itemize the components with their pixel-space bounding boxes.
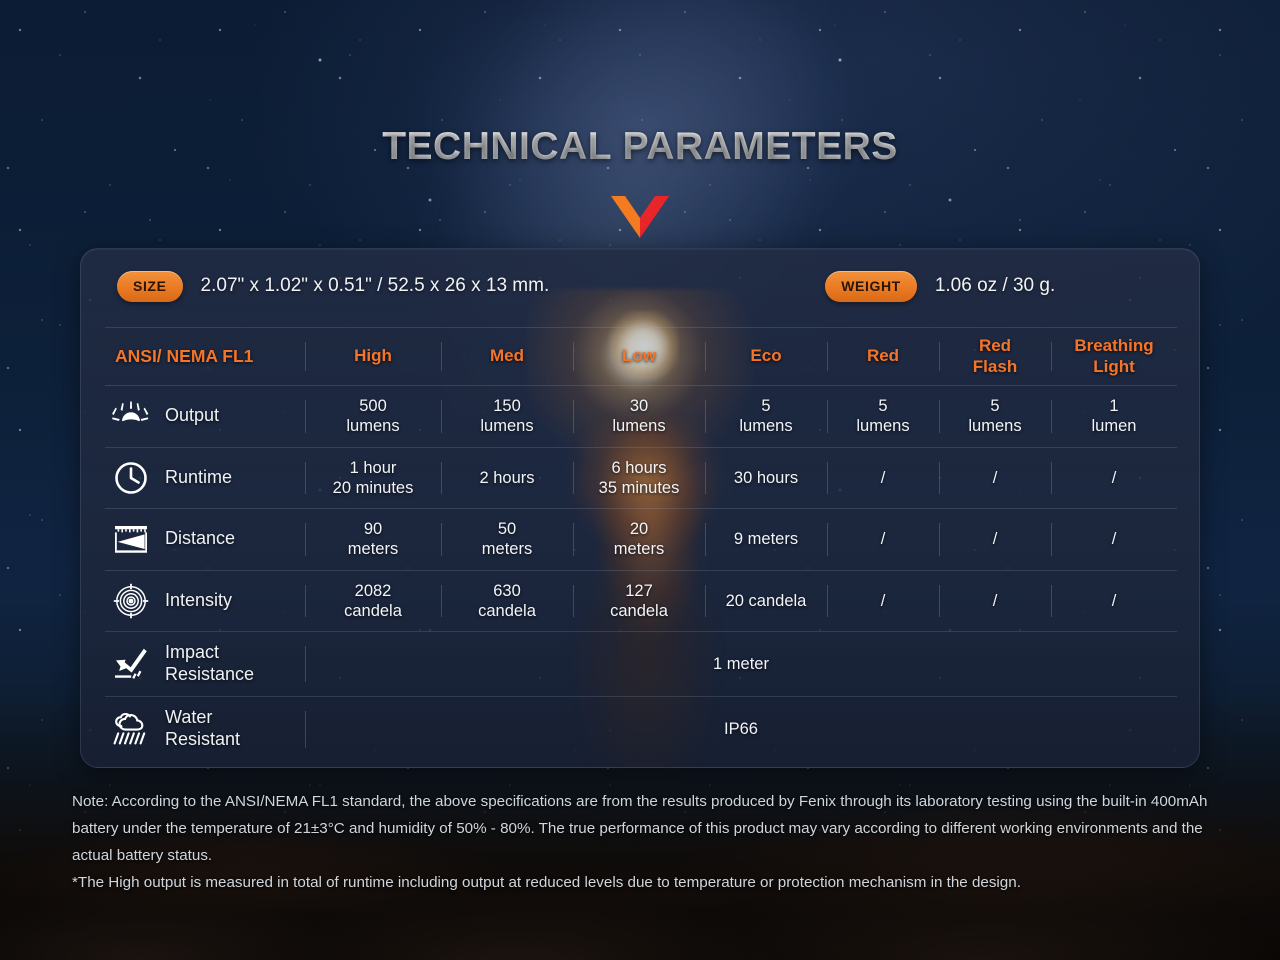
- cell-distance-high: 90 meters: [305, 509, 441, 571]
- footnote: Note: According to the ANSI/NEMA FL1 sta…: [72, 788, 1212, 896]
- cell-output-red: 5 lumens: [827, 386, 939, 448]
- cell-output-low: 30 lumens: [573, 386, 705, 448]
- weight-badge: WEIGHT: [825, 271, 917, 302]
- row-label-runtime: Runtime: [105, 447, 305, 509]
- row-label-text: Impact Resistance: [165, 642, 254, 686]
- row-label-text: Runtime: [165, 467, 232, 489]
- cell-intensity-med: 630 candela: [441, 570, 573, 632]
- header-red-flash: Red Flash: [939, 328, 1051, 386]
- cell-distance-eco: 9 meters: [705, 509, 827, 571]
- cell-runtime-red-flash: /: [939, 447, 1051, 509]
- page-background: TECHNICAL PARAMETERS SIZE 2.07" x 1.: [0, 0, 1280, 960]
- header-ansi-nema-fl1: ANSI/ NEMA FL1: [105, 328, 305, 386]
- cell-runtime-med: 2 hours: [441, 447, 573, 509]
- cell-distance-red-flash: /: [939, 509, 1051, 571]
- cell-output-breathing-light: 1 lumen: [1051, 386, 1177, 448]
- cell-runtime-low: 6 hours 35 minutes: [573, 447, 705, 509]
- table-header-row: ANSI/ NEMA FL1 High Med Low Eco Red Red …: [105, 328, 1177, 386]
- cell-water-resistant-value: IP66: [305, 697, 1177, 762]
- rain-cloud-icon: [111, 709, 151, 749]
- row-label-text: Distance: [165, 528, 235, 550]
- row-label-impact-resistance: Impact Resistance: [105, 632, 305, 697]
- header-breathing-light: Breathing Light: [1051, 328, 1177, 386]
- cell-intensity-breathing-light: /: [1051, 570, 1177, 632]
- row-label-output: Output: [105, 386, 305, 448]
- size-value: 2.07" x 1.02" x 0.51" / 52.5 x 26 x 13 m…: [201, 275, 550, 297]
- header-high: High: [305, 328, 441, 386]
- cell-runtime-red: /: [827, 447, 939, 509]
- row-label-text: Output: [165, 405, 219, 427]
- cell-runtime-high: 1 hour 20 minutes: [305, 447, 441, 509]
- table-row: Distance 90 meters 50 meters 20 meters 9…: [105, 509, 1177, 571]
- cell-intensity-eco: 20 candela: [705, 570, 827, 632]
- cell-impact-resistance-value: 1 meter: [305, 632, 1177, 697]
- sunburst-icon: [111, 396, 151, 436]
- header-eco: Eco: [705, 328, 827, 386]
- table-row: Impact Resistance 1 meter: [105, 632, 1177, 697]
- cell-distance-med: 50 meters: [441, 509, 573, 571]
- cell-intensity-low: 127 candela: [573, 570, 705, 632]
- row-label-text: Water Resistant: [165, 707, 240, 751]
- spec-panel: SIZE 2.07" x 1.02" x 0.51" / 52.5 x 26 x…: [80, 248, 1200, 768]
- cell-intensity-red: /: [827, 570, 939, 632]
- technical-parameters-table: ANSI/ NEMA FL1 High Med Low Eco Red Red …: [105, 327, 1177, 762]
- cell-runtime-eco: 30 hours: [705, 447, 827, 509]
- page-title: TECHNICAL PARAMETERS: [0, 125, 1280, 169]
- cell-intensity-red-flash: /: [939, 570, 1051, 632]
- table-row: Output 500 lumens 150 lumens 30 lumens 5…: [105, 386, 1177, 448]
- footnote-line-1: Note: According to the ANSI/NEMA FL1 sta…: [72, 788, 1212, 869]
- footnote-line-2: *The High output is measured in total of…: [72, 869, 1212, 896]
- weight-spec: WEIGHT 1.06 oz / 30 g.: [825, 271, 1055, 302]
- table-row: Intensity 2082 candela 630 candela 127 c…: [105, 570, 1177, 632]
- cell-output-med: 150 lumens: [441, 386, 573, 448]
- row-label-text: Intensity: [165, 590, 232, 612]
- header-red: Red: [827, 328, 939, 386]
- header-med: Med: [441, 328, 573, 386]
- table-row: Water Resistant IP66: [105, 697, 1177, 762]
- cell-distance-low: 20 meters: [573, 509, 705, 571]
- cell-intensity-high: 2082 candela: [305, 570, 441, 632]
- cell-distance-breathing-light: /: [1051, 509, 1177, 571]
- cell-runtime-breathing-light: /: [1051, 447, 1177, 509]
- row-label-distance: Distance: [105, 509, 305, 571]
- cell-output-high: 500 lumens: [305, 386, 441, 448]
- weight-value: 1.06 oz / 30 g.: [935, 275, 1055, 297]
- cell-output-red-flash: 5 lumens: [939, 386, 1051, 448]
- size-badge: SIZE: [117, 271, 183, 302]
- header-low: Low: [573, 328, 705, 386]
- target-icon: [111, 581, 151, 621]
- table-row: Runtime 1 hour 20 minutes 2 hours 6 hour…: [105, 447, 1177, 509]
- row-label-water-resistant: Water Resistant: [105, 697, 305, 762]
- cell-distance-red: /: [827, 509, 939, 571]
- cell-output-eco: 5 lumens: [705, 386, 827, 448]
- ruler-icon: [111, 519, 151, 559]
- clock-icon: [111, 458, 151, 498]
- dimensions-row: SIZE 2.07" x 1.02" x 0.51" / 52.5 x 26 x…: [81, 249, 1199, 323]
- row-label-intensity: Intensity: [105, 570, 305, 632]
- size-spec: SIZE 2.07" x 1.02" x 0.51" / 52.5 x 26 x…: [117, 271, 549, 302]
- chevron-divider-icon: [0, 196, 1280, 243]
- impact-icon: [111, 644, 151, 684]
